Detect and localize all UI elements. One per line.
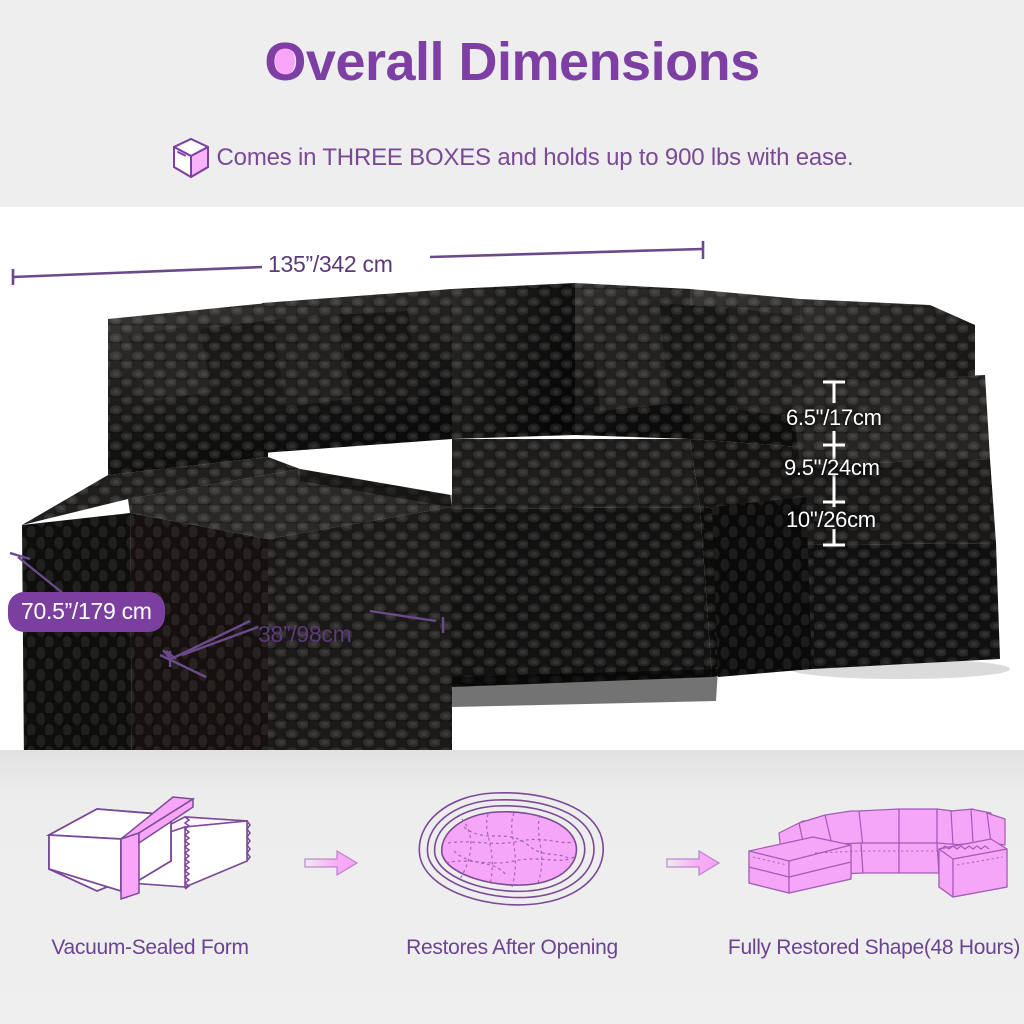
seat-cushion-height-label: 9.5"/24cm	[784, 455, 880, 481]
arrow-right-icon	[665, 848, 721, 878]
width-dimension-label: 135”/342 cm	[268, 251, 393, 278]
arrow-right-icon	[303, 848, 359, 878]
product-image-section: 135”/342 cm 70.5”/179 cm 38”/98cm 6.5"/1…	[0, 207, 1024, 750]
step-vacuum-sealed: Vacuum-Sealed Form	[0, 750, 300, 960]
steps-row: Vacuum-Sealed Form	[0, 750, 1024, 1024]
vacuum-sealed-box-icon	[35, 787, 265, 917]
module-width-dimension-label: 38”/98cm	[258, 621, 351, 648]
page-title: Overall Dimensions	[0, 34, 1024, 91]
title-rest: verall Dimensions	[306, 32, 760, 92]
depth-dimension-badge: 70.5”/179 cm	[8, 592, 165, 632]
step-2-caption: Restores After Opening	[406, 936, 618, 960]
title-first-letter: O	[264, 32, 306, 92]
step-3-art	[739, 782, 1009, 922]
step-restores: Restores After Opening	[362, 750, 662, 960]
header-section: Overall Dimensions Comes in THREE BOXES …	[0, 0, 1024, 207]
sofa-corner-pillows	[592, 303, 804, 419]
sectional-sofa-icon	[739, 787, 1009, 917]
step-1-art	[35, 782, 265, 922]
step-fully-restored: Fully Restored Shape(48 Hours)	[724, 750, 1024, 960]
expanding-foam-blob-icon	[402, 787, 622, 917]
process-steps-section: Vacuum-Sealed Form	[0, 750, 1024, 1024]
subtitle-text: Comes in THREE BOXES and holds up to 900…	[217, 144, 854, 172]
title-o-glyph: O	[264, 34, 306, 91]
step-1-caption: Vacuum-Sealed Form	[51, 936, 248, 960]
arrow-2-wrap	[662, 750, 724, 878]
step-3-caption: Fully Restored Shape(48 Hours)	[728, 936, 1020, 960]
arrow-1-wrap	[300, 750, 362, 878]
infographic-page: Overall Dimensions Comes in THREE BOXES …	[0, 0, 1024, 1024]
subtitle-row: Comes in THREE BOXES and holds up to 900…	[0, 136, 1024, 180]
back-cushion-height-label: 6.5"/17cm	[786, 405, 882, 431]
box-3d-icon	[171, 136, 211, 180]
step-2-art	[402, 782, 622, 922]
base-height-label: 10"/26cm	[786, 507, 876, 533]
